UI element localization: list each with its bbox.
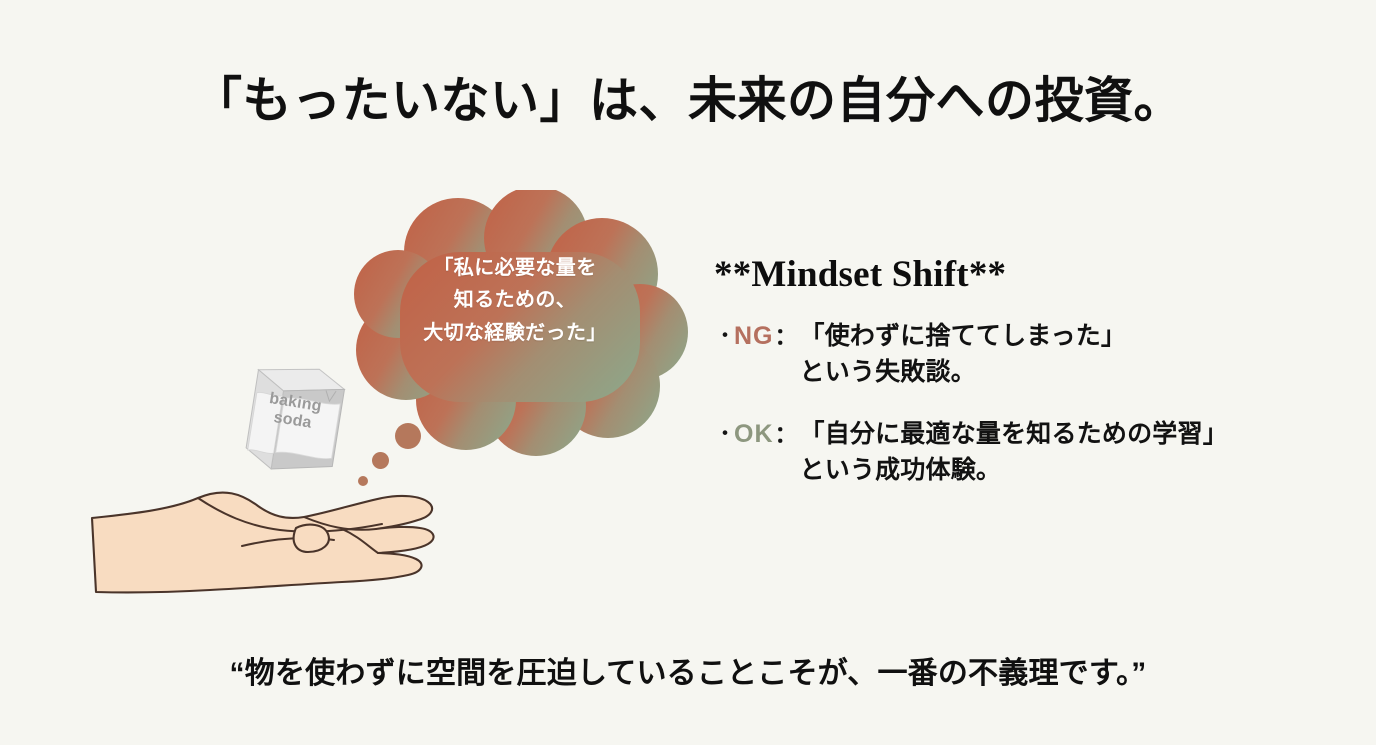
panel-heading: **Mindset Shift** <box>714 255 1324 296</box>
bullet-body-ok: 「自分に最適な量を知るための学習」 という成功体験。 <box>800 416 1325 488</box>
baking-soda-box: baking soda <box>230 352 360 477</box>
page-title: 「もったいない」は、未来の自分への投資。 <box>0 72 1376 131</box>
slide-canvas: 「もったいない」は、未来の自分への投資。 <box>0 0 1376 745</box>
bullet-tag-ng: NG <box>734 318 774 354</box>
bullet-body-ng: 「使わずに捨ててしまった」 という失敗談。 <box>800 318 1325 390</box>
mindset-shift-panel: **Mindset Shift** ・ NG ： 「使わずに捨ててしまった」 と… <box>714 255 1324 488</box>
bullet-ok-line-2: という成功体験。 <box>800 452 1325 488</box>
bullet-tag-ok: OK <box>734 416 774 452</box>
open-hand-illustration <box>90 470 470 610</box>
bullet-ok-line-1: 「自分に最適な量を知るための学習」 <box>800 416 1325 452</box>
bullet-colon-ng: ： <box>775 318 798 354</box>
baking-soda-box-shape <box>230 352 360 477</box>
bullet-ng-line-1: 「使わずに捨ててしまった」 <box>800 318 1325 354</box>
bullet-ok: ・ OK ： 「自分に最適な量を知るための学習」 という成功体験。 <box>714 416 1324 488</box>
thought-puff-large <box>395 423 421 449</box>
bullet-ng-line-2: という失敗談。 <box>800 354 1325 390</box>
open-hand-shape <box>90 470 470 610</box>
thought-puff-medium <box>372 452 389 469</box>
bullet-marker-icon: ・ <box>714 416 734 452</box>
bottom-quote: “物を使わずに空間を圧迫していることこそが、一番の不義理です。” <box>0 648 1376 692</box>
thought-bubble-shape <box>340 190 690 465</box>
thought-bubble: 「私に必要な量を 知るための、 大切な経験だった」 <box>340 190 690 465</box>
bullet-colon-ok: ： <box>775 416 798 452</box>
bullet-ng: ・ NG ： 「使わずに捨ててしまった」 という失敗談。 <box>714 318 1324 390</box>
bullet-marker-icon: ・ <box>714 318 734 354</box>
illustration-group: 「私に必要な量を 知るための、 大切な経験だった」 <box>70 180 710 620</box>
